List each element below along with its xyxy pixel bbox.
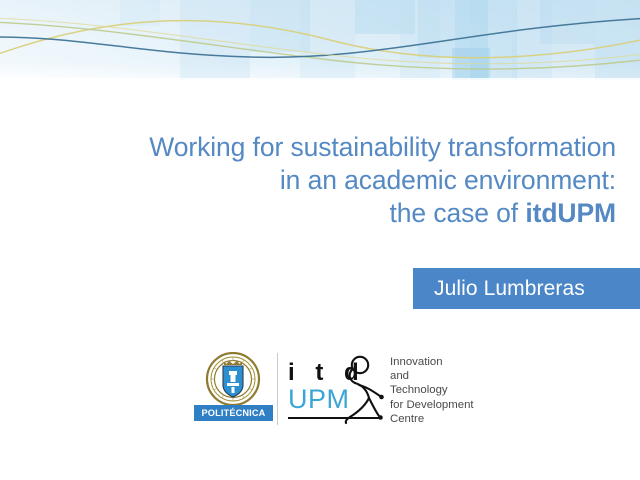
logo-row: POLITÉCNICA i t d UPM — [193, 352, 513, 434]
centre-line-1: Innovation — [390, 355, 515, 369]
author-name: Julio Lumbreras — [413, 277, 585, 301]
walking-stick-figure-icon — [340, 354, 386, 430]
title-line-3: the case of itdUPM — [60, 197, 616, 230]
slide-title: Working for sustainability transformatio… — [60, 131, 616, 230]
politecnica-badge: POLITÉCNICA — [194, 405, 273, 421]
title-line-3-prefix: the case of — [390, 198, 526, 228]
centre-line-3: Technology — [390, 383, 515, 397]
centre-line-5: Centre — [390, 412, 515, 426]
title-line-1: Working for sustainability transformatio… — [60, 131, 616, 164]
logo-divider — [277, 353, 278, 425]
itdupm-logo: i t d UPM — [288, 356, 383, 428]
centre-line-2: and — [390, 369, 515, 383]
upm-crest-icon — [203, 352, 263, 408]
centre-line-4: for Development — [390, 398, 515, 412]
title-line-2: in an academic environment: — [60, 164, 616, 197]
title-line-3-bold: itdUPM — [525, 198, 616, 228]
header-wave-graphic — [0, 0, 640, 86]
politecnica-label: POLITÉCNICA — [202, 408, 266, 418]
centre-description: Innovation and Technology for Developmen… — [390, 355, 515, 426]
slide-header-decoration — [0, 0, 640, 86]
upm-logo: POLITÉCNICA — [193, 352, 273, 430]
author-banner: Julio Lumbreras — [413, 268, 640, 309]
